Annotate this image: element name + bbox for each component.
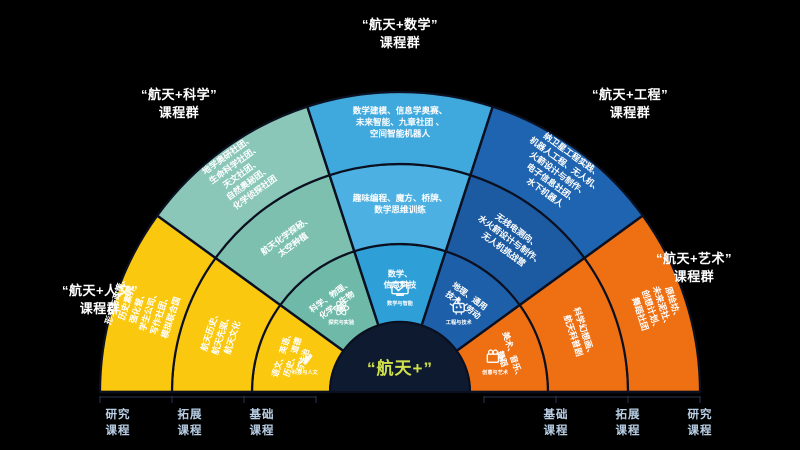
icon-label-math: 数学与智能 (387, 299, 414, 307)
group-title-art: “航天+艺术”课程群 (656, 250, 732, 285)
axis-label-line1: 拓展 (178, 408, 203, 424)
axis-label-line2: 课程 (178, 424, 203, 440)
axis-label-line2: 课程 (250, 424, 275, 440)
axis-label-right-1: 基础课程 (544, 408, 569, 439)
segment-text-line: 趣味编程、魔方、桥牌、 (352, 192, 448, 203)
group-title-line1: “航天+艺术” (656, 250, 732, 268)
axis-label-left-1: 研究课程 (106, 408, 131, 439)
segment-text-line: 数学、 (388, 268, 413, 278)
group-title-humanities: “航天+人文”课程群 (62, 282, 138, 317)
group-title-line2: 课程群 (362, 34, 438, 52)
icon-label-humanities: 科技与人文 (292, 368, 319, 376)
radial-wheel: 语文、英语、历史、道德与法治航天历史、航天先驱、航天文化形式与政策、历史素养强化… (0, 0, 800, 450)
axis-label-right-3: 研究课程 (688, 408, 713, 439)
icon-label-engineering: 工程与技术 (446, 318, 473, 326)
group-title-line2: 课程群 (592, 104, 668, 122)
group-title-engineering: “航天+工程”课程群 (592, 86, 668, 121)
group-title-line2: 课程群 (656, 268, 732, 286)
group-title-science: “航天+科学”课程群 (141, 86, 217, 121)
axis-label-right-2: 拓展课程 (616, 408, 641, 439)
center-label: “航天+” (367, 358, 433, 378)
segment-text-line: 信息科技 (384, 279, 418, 289)
group-title-math: “航天+数学”课程群 (362, 16, 438, 51)
aerospace-curriculum-diagram: 语文、英语、历史、道德与法治航天历史、航天先驱、航天文化形式与政策、历史素养强化… (0, 0, 800, 450)
axis-label-line1: 研究 (106, 408, 131, 424)
segment-text-line: 空间智能机器人 (370, 128, 431, 139)
group-title-line1: “航天+人文” (62, 282, 138, 300)
axis-label-left-3: 基础课程 (250, 408, 275, 439)
axis-label-line2: 课程 (616, 424, 641, 440)
axis-label-line1: 基础 (250, 408, 275, 424)
axis-label-line2: 课程 (544, 424, 569, 440)
segment-text-line: 数学思维训练 (374, 204, 426, 215)
axis-label-line1: 基础 (544, 408, 569, 424)
segment-text-line: 数学建模、信息学奥赛、 (353, 104, 448, 115)
group-title-line1: “航天+科学” (141, 86, 217, 104)
group-title-line1: “航天+数学” (362, 16, 438, 34)
axis-label-line2: 课程 (106, 424, 131, 440)
axis-label-line1: 拓展 (616, 408, 641, 424)
group-title-line2: 课程群 (62, 300, 138, 318)
axis-label-line1: 研究 (688, 408, 713, 424)
icon-label-art: 创意与艺术 (481, 368, 509, 376)
group-title-line1: “航天+工程” (592, 86, 668, 104)
segment-text-line: 未来智能、九章社团 、 (355, 116, 444, 127)
icon-label-science: 探究与实验 (328, 318, 355, 326)
axis-label-left-2: 拓展课程 (178, 408, 203, 439)
axis-label-line2: 课程 (688, 424, 713, 440)
group-title-line2: 课程群 (141, 104, 217, 122)
